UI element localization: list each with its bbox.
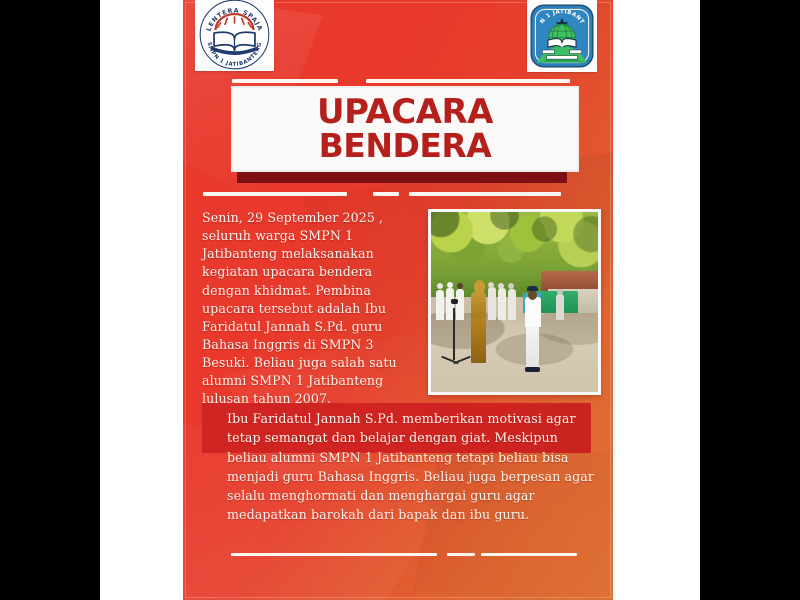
paragraph-two-group: Ibu Faridatul Jannah S.Pd. memberikan mo… — [202, 200, 602, 360]
photo-leader-shoes — [525, 367, 540, 372]
screenshot-canvas: LENTERA SPAJA SMPN 1 JATIBANTENG — [0, 0, 800, 600]
smpn1-jatibanteng-crest: SMPN 1 JATIBANTENG — [527, 0, 597, 72]
title-bottom-dashes — [203, 192, 593, 196]
dash-segment — [409, 192, 561, 196]
poster: LENTERA SPAJA SMPN 1 JATIBANTENG — [183, 0, 613, 600]
dash-segment — [231, 553, 437, 556]
lentera-spaja-logo: LENTERA SPAJA SMPN 1 JATIBANTENG — [195, 0, 274, 71]
dash-segment — [373, 192, 399, 196]
dash-segment — [481, 553, 577, 556]
letterbox-bar-left — [0, 0, 100, 600]
dash-segment — [232, 79, 338, 83]
title-card: UPACARA BENDERA — [231, 86, 579, 172]
dash-segment — [366, 79, 570, 83]
title-top-dashes — [230, 79, 572, 83]
dash-segment — [203, 192, 347, 196]
letterbox-bar-right — [700, 0, 800, 600]
poster-title-line-2: BENDERA — [319, 130, 492, 163]
paragraph-two: Ibu Faridatul Jannah S.Pd. memberikan mo… — [227, 409, 599, 525]
dash-segment — [447, 553, 475, 556]
footer-dashes — [231, 553, 579, 556]
poster-title-line-1: UPACARA — [317, 96, 493, 130]
